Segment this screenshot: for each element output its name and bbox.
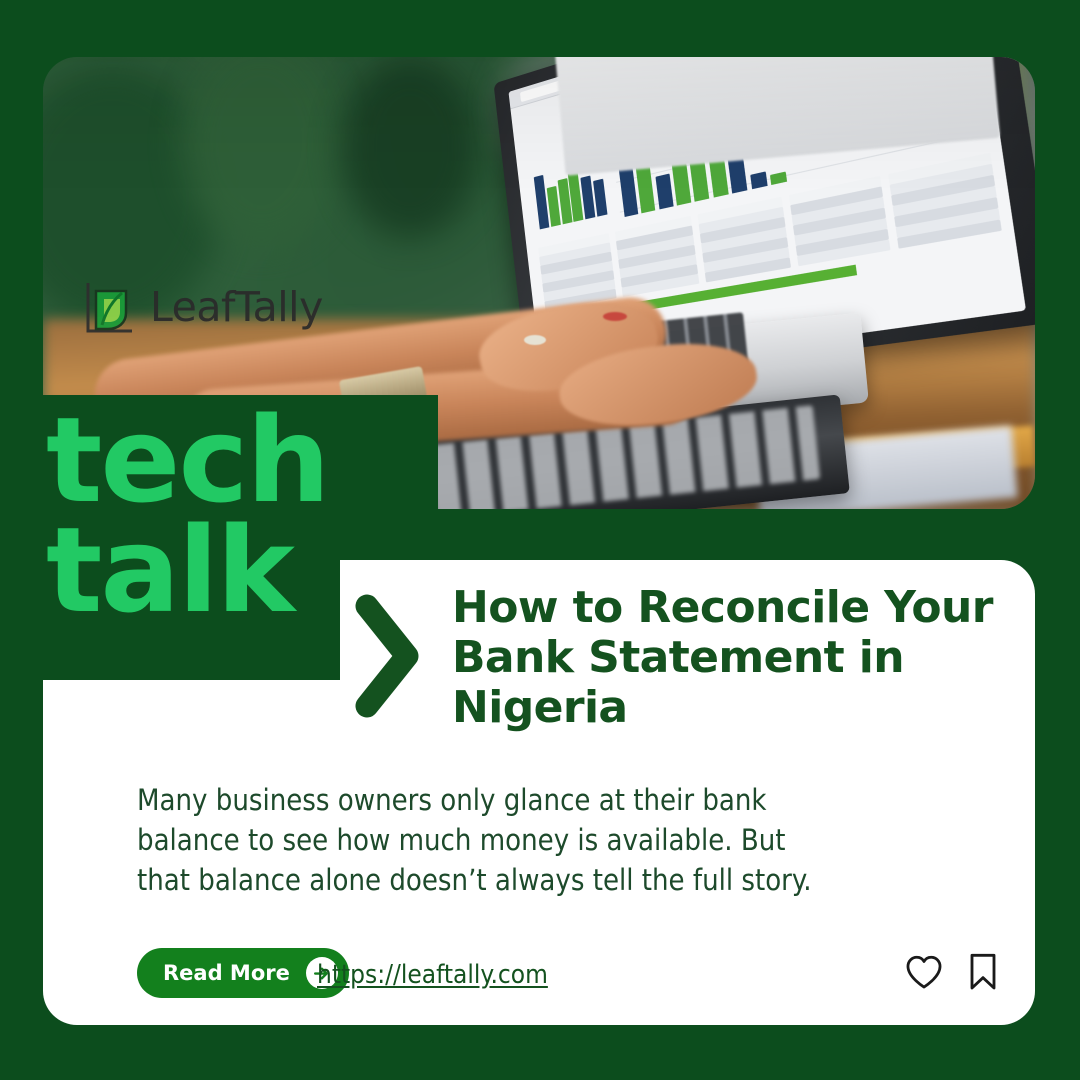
bookmark-icon[interactable] xyxy=(966,952,1000,992)
card-footer: Read More https://leaftally.com xyxy=(137,948,1000,1006)
body-copy-line-1: Many business owners only glance at thei… xyxy=(137,780,947,820)
chevron-right-icon xyxy=(355,592,421,720)
body-copy: Many business owners only glance at thei… xyxy=(137,780,947,900)
heart-icon[interactable] xyxy=(904,954,944,990)
read-more-label: Read More xyxy=(163,961,290,985)
eyebrow-line-2: talk xyxy=(46,516,328,626)
brand-watermark-label: LeafTally xyxy=(150,283,323,331)
post-canvas: LeafTally tech talk How to Reconcile You… xyxy=(0,0,1080,1080)
page-title: How to Reconcile Your Bank Statement in … xyxy=(452,583,1018,733)
body-copy-line-3: that balance alone doesn’t always tell t… xyxy=(137,860,947,900)
website-link[interactable]: https://leaftally.com xyxy=(317,960,548,990)
leaf-logo-icon xyxy=(82,279,138,335)
brand-watermark: LeafTally xyxy=(82,279,323,335)
body-copy-line-2: balance to see how much money is availab… xyxy=(137,820,947,860)
eyebrow-tech-talk: tech talk xyxy=(46,406,328,625)
social-actions xyxy=(904,952,1000,992)
eyebrow-line-1: tech xyxy=(46,406,328,516)
